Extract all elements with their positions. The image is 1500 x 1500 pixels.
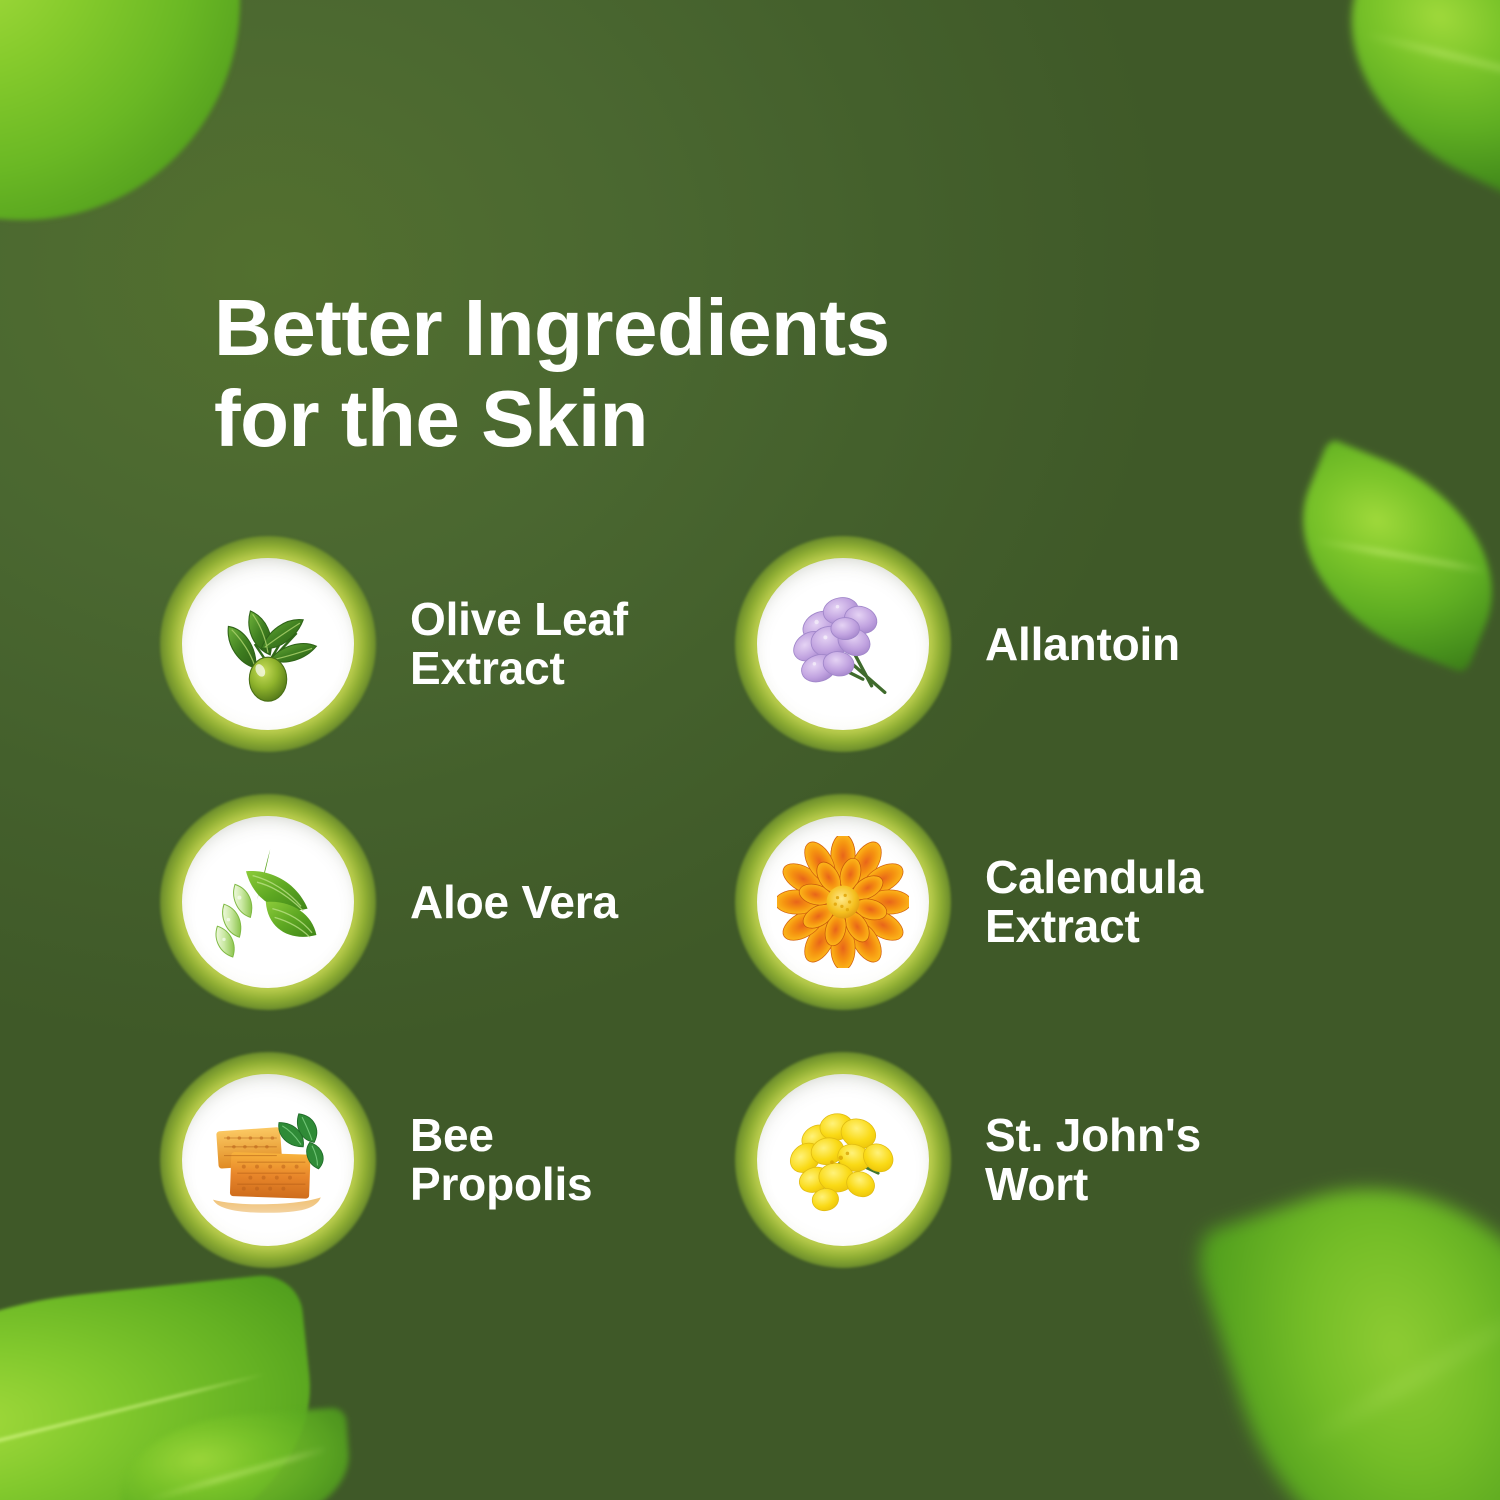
leaf-icon-top-right	[1304, 0, 1500, 205]
ingredient-badge	[735, 794, 951, 1010]
ingredient-item-bee-propolis: Bee Propolis	[160, 1052, 735, 1268]
ingredient-label: Calendula Extract	[985, 853, 1203, 951]
ingredients-poster: Better Ingredients for the Skin	[0, 0, 1500, 1500]
ingredient-badge	[160, 794, 376, 1010]
ingredient-item-aloe-vera: Aloe Vera	[160, 794, 735, 1010]
olive-branch-icon	[202, 578, 334, 710]
ingredient-label: St. John's Wort	[985, 1111, 1201, 1209]
page-title: Better Ingredients for the Skin	[214, 282, 1214, 464]
leaf-icon-top-left	[0, 0, 240, 220]
ingredient-label: Allantoin	[985, 620, 1180, 669]
aloe-vera-icon	[202, 836, 334, 968]
comfrey-flower-icon	[777, 578, 909, 710]
ingredient-badge	[735, 1052, 951, 1268]
leaf-icon-bottom-left-tip	[116, 1407, 354, 1500]
ingredient-item-st-johns-wort: St. John's Wort	[735, 1052, 1310, 1268]
ingredient-badge	[160, 536, 376, 752]
ingredient-grid: Olive Leaf Extract	[160, 536, 1390, 1268]
yellow-flower-icon	[777, 1094, 909, 1226]
ingredient-item-calendula-extract: Calendula Extract	[735, 794, 1310, 1010]
ingredient-label: Aloe Vera	[410, 878, 618, 927]
honeycomb-icon	[202, 1094, 334, 1226]
marigold-flower-icon	[777, 836, 909, 968]
leaf-icon-bottom-left	[0, 1272, 329, 1500]
ingredient-label: Olive Leaf Extract	[410, 595, 628, 693]
ingredient-badge	[160, 1052, 376, 1268]
ingredient-label: Bee Propolis	[410, 1111, 592, 1209]
ingredient-badge	[735, 536, 951, 752]
ingredient-item-olive-leaf-extract: Olive Leaf Extract	[160, 536, 735, 752]
ingredient-item-allantoin: Allantoin	[735, 536, 1310, 752]
